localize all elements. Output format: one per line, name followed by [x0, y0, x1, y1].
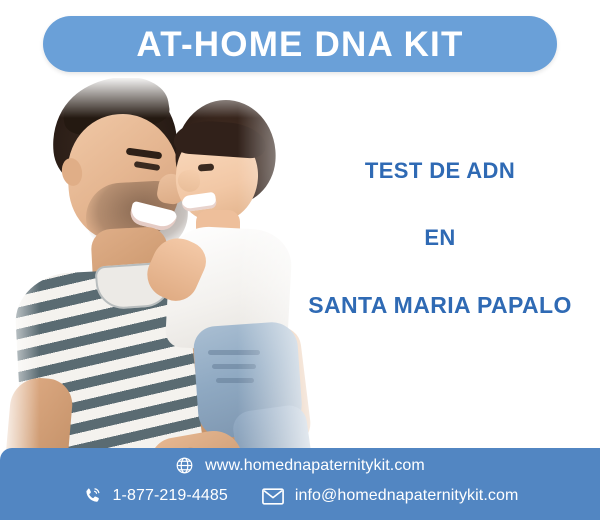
phone-item[interactable]: 1-877-219-4485 [82, 486, 228, 506]
website-item[interactable]: www.homednapaternitykit.com [175, 456, 425, 475]
headline-line-2: EN [290, 227, 590, 249]
envelope-icon [262, 488, 284, 505]
phone-icon [82, 486, 102, 506]
title-banner: AT-HOME DNA KIT [43, 16, 557, 72]
footer-website-row: www.homednapaternitykit.com [0, 456, 600, 475]
headline-block: TEST DE ADN EN SANTA MARIA PAPALO [290, 160, 590, 317]
poster: AT-HOME DNA KIT [0, 0, 600, 520]
footer-contact-row: 1-877-219-4485 info@homednapaternitykit.… [0, 486, 600, 506]
headline-line-3: SANTA MARIA PAPALO [290, 294, 590, 317]
photo-canvas [0, 78, 330, 478]
contact-footer: www.homednapaternitykit.com 1-877-219-44… [0, 448, 600, 520]
globe-icon [175, 456, 194, 475]
child-eye [198, 163, 214, 171]
family-photo [0, 78, 330, 478]
page-title: AT-HOME DNA KIT [136, 27, 463, 62]
email-label: info@homednapaternitykit.com [295, 487, 519, 505]
email-item[interactable]: info@homednapaternitykit.com [262, 487, 519, 505]
phone-label: 1-877-219-4485 [113, 487, 228, 505]
headline-line-1: TEST DE ADN [290, 160, 590, 182]
child-jeans-fold [212, 364, 256, 369]
website-label: www.homednapaternitykit.com [205, 457, 425, 475]
child-jeans-fold [208, 350, 260, 355]
child-jeans-fold [216, 378, 254, 383]
